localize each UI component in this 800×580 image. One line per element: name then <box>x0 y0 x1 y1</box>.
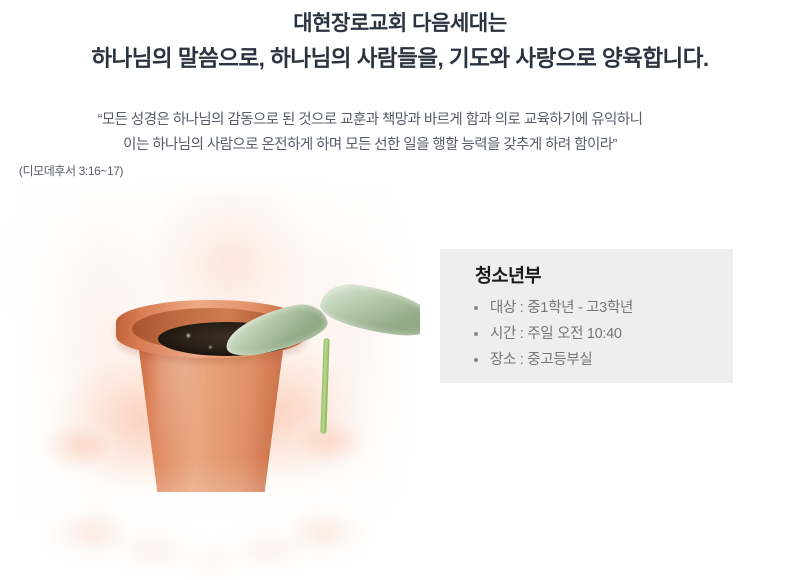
heading-line-1: 대현장로교회 다음세대는 <box>0 8 800 40</box>
list-item-text: 장소 : 중고등부실 <box>490 352 592 368</box>
hands-holding-seedling-photo <box>0 175 420 580</box>
scripture-line-2: 이는 하나님의 사람으로 온전하게 하며 모든 선한 일을 행할 능력을 갖추게… <box>0 133 740 158</box>
scripture-reference: (디모데후서 3:16~17) <box>0 162 740 180</box>
list-item: 시간 : 주일 오전 10:40 <box>467 321 633 347</box>
scripture-quote: “모든 성경은 하나님의 감동으로 된 것으로 교훈과 책망과 바르게 함과 의… <box>0 108 740 180</box>
info-card-list: 대상 : 중1학년 - 고3학년 시간 : 주일 오전 10:40 장소 : 중… <box>467 295 633 373</box>
list-item: 대상 : 중1학년 - 고3학년 <box>467 295 633 321</box>
page-heading: 대현장로교회 다음세대는 하나님의 말씀으로, 하나님의 사람들을, 기도와 사… <box>0 8 800 76</box>
list-item-text: 시간 : 주일 오전 10:40 <box>490 326 622 342</box>
bullet-icon <box>474 332 478 336</box>
list-item-text: 대상 : 중1학년 - 고3학년 <box>490 300 633 316</box>
bullet-icon <box>474 358 478 362</box>
scripture-line-1: “모든 성경은 하나님의 감동으로 된 것으로 교훈과 책망과 바르게 함과 의… <box>0 108 740 133</box>
left-thumb <box>26 420 118 478</box>
terracotta-pot <box>116 280 306 492</box>
bullet-icon <box>474 306 478 310</box>
heading-line-2: 하나님의 말씀으로, 하나님의 사람들을, 기도와 사랑으로 양육합니다. <box>0 42 800 76</box>
ministry-intro-page: 대현장로교회 다음세대는 하나님의 말씀으로, 하나님의 사람들을, 기도와 사… <box>0 0 800 580</box>
info-card-title: 청소년부 <box>475 262 541 288</box>
youth-ministry-info-card: 청소년부 대상 : 중1학년 - 고3학년 시간 : 주일 오전 10:40 장… <box>440 249 733 383</box>
list-item: 장소 : 중고등부실 <box>467 347 633 373</box>
